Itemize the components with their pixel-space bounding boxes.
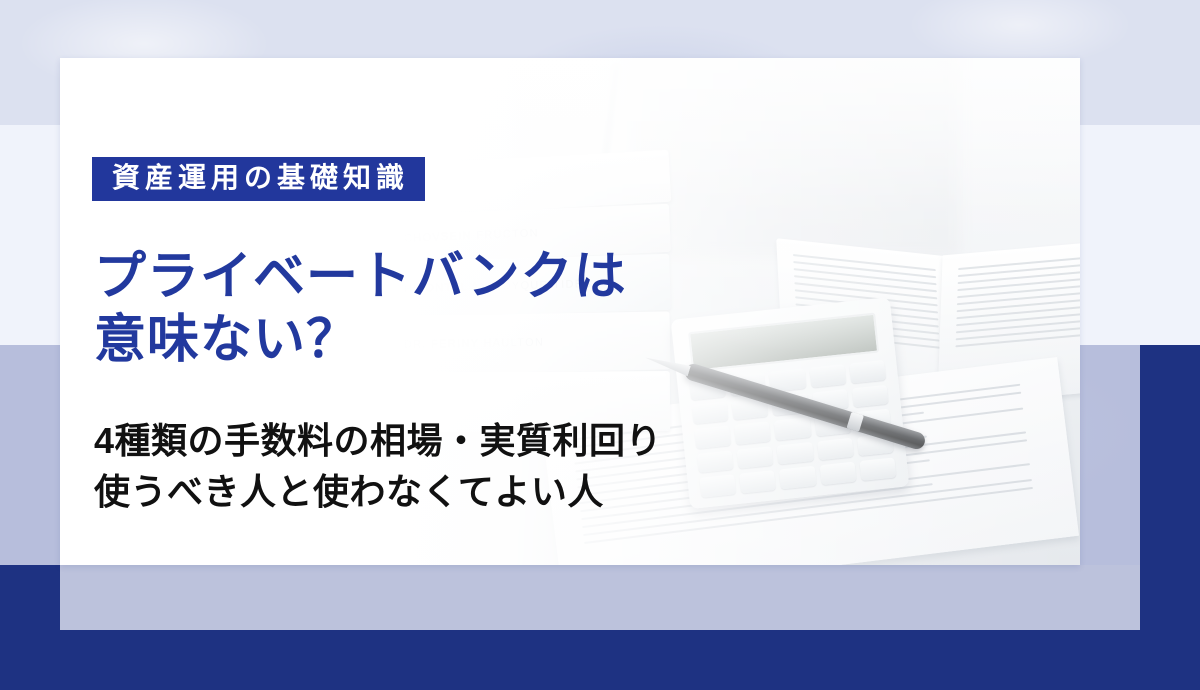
page-title-line-2: 意味ない？ <box>94 309 627 372</box>
banner-content: 資産運用の基礎知識 プライベートバンクは 意味ない？ 4種類の手数料の相場・実質… <box>92 58 772 565</box>
page-title-line-1: プライベートバンクは <box>94 246 627 309</box>
category-badge: 資産運用の基礎知識 <box>92 157 425 201</box>
navy-accent-block-left <box>0 565 60 690</box>
banner-card: CHOVSEIN FRUCTON HITONTAL AND DYQURITIDE… <box>60 58 1080 565</box>
page-subtitle-line-2: 使うべき人と使わなくてよい人 <box>94 466 662 517</box>
page-subtitle: 4種類の手数料の相場・実質利回り 使うべき人と使わなくてよい人 <box>94 415 662 517</box>
periwinkle-strip-under-card <box>60 565 1140 630</box>
background-band-navy-bottom <box>0 630 1200 690</box>
navy-accent-block-right <box>1140 345 1200 690</box>
page-title: プライベートバンクは 意味ない？ <box>94 246 627 373</box>
page-subtitle-line-1: 4種類の手数料の相場・実質利回り <box>94 415 662 466</box>
